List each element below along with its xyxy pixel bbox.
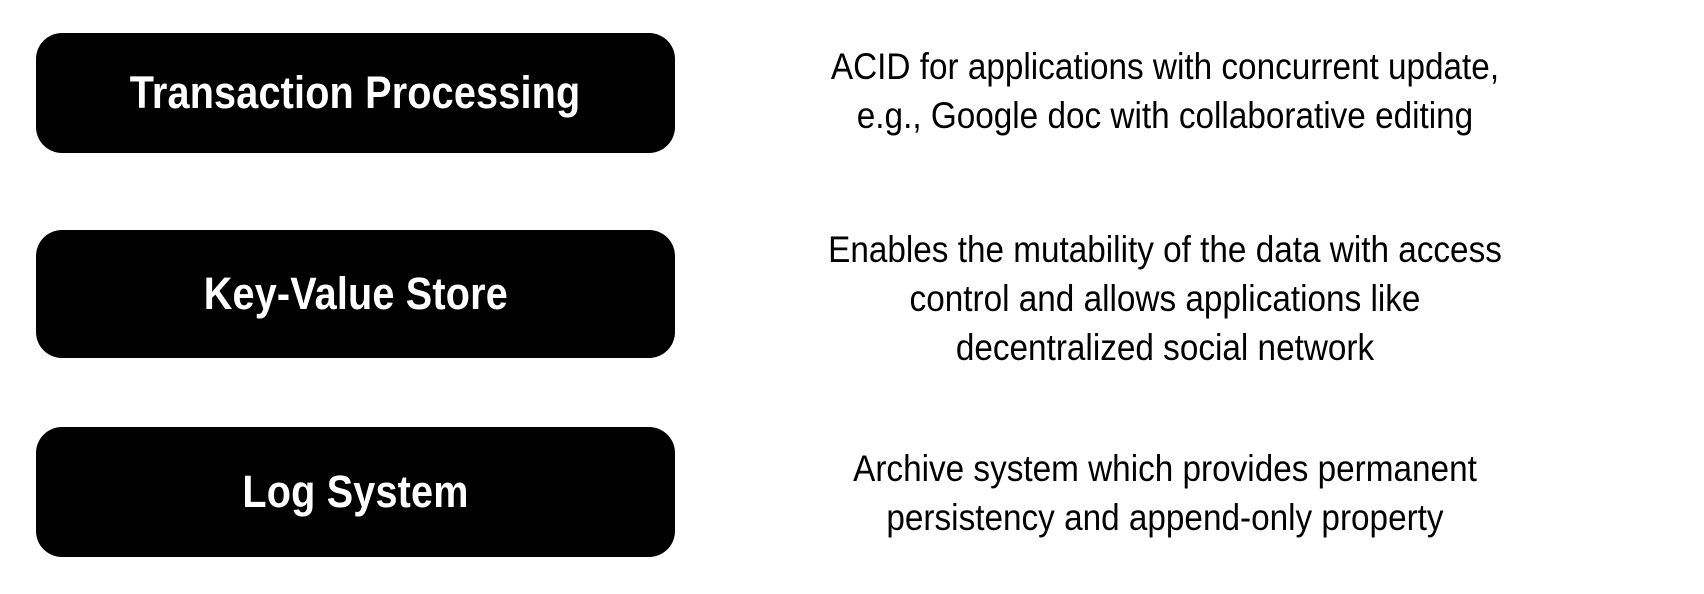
description-log-system: Archive system which provides permanent … xyxy=(765,445,1566,543)
description-transaction-processing: ACID for applications with concurrent up… xyxy=(765,43,1566,141)
label-box-text-transaction-processing: Transaction Processing xyxy=(130,69,581,116)
description-line: ACID for applications with concurrent up… xyxy=(765,43,1566,92)
description-line: persistency and append-only property xyxy=(765,494,1566,543)
description-line: Enables the mutability of the data with … xyxy=(765,226,1566,275)
label-box-transaction-processing[interactable]: Transaction Processing xyxy=(36,33,675,153)
diagram-canvas: Transaction Processing ACID for applicat… xyxy=(0,0,1704,594)
diagram-row-key-value-store: Key-Value Store Enables the mutability o… xyxy=(0,230,1704,358)
diagram-row-log-system: Log System Archive system which provides… xyxy=(0,427,1704,557)
label-box-text-key-value-store: Key-Value Store xyxy=(203,270,507,317)
label-box-key-value-store[interactable]: Key-Value Store xyxy=(36,230,675,358)
label-box-text-log-system: Log System xyxy=(242,468,468,515)
description-key-value-store: Enables the mutability of the data with … xyxy=(765,226,1566,372)
description-line: control and allows applications like xyxy=(765,275,1566,324)
description-line: e.g., Google doc with collaborative edit… xyxy=(765,92,1566,141)
description-line: decentralized social network xyxy=(765,324,1566,373)
label-box-log-system[interactable]: Log System xyxy=(36,427,675,557)
description-line: Archive system which provides permanent xyxy=(765,445,1566,494)
diagram-row-transaction-processing: Transaction Processing ACID for applicat… xyxy=(0,33,1704,153)
